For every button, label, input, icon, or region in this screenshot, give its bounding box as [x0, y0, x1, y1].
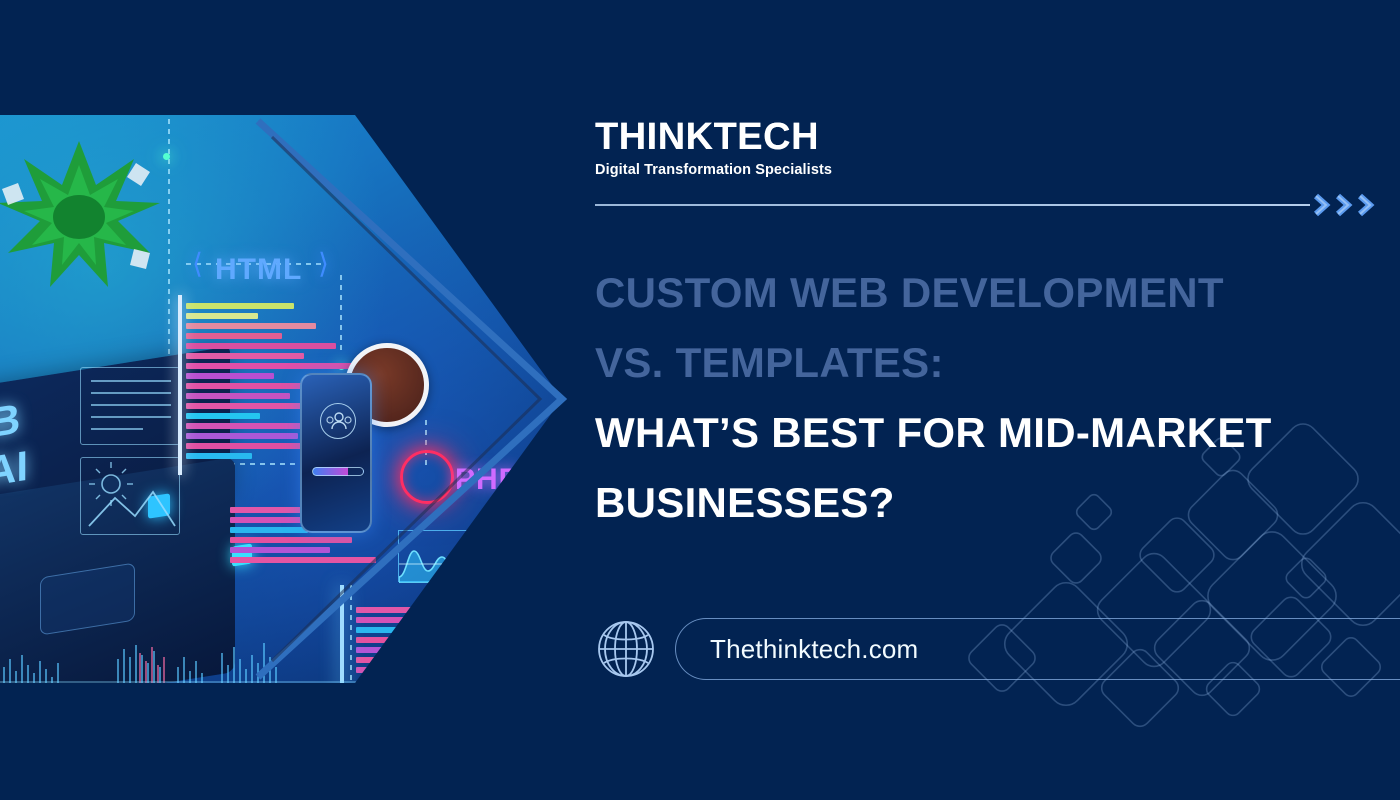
screen-letter-ai: AI: [0, 442, 28, 497]
content-column: THINKTECH Digital Transformation Special…: [595, 0, 1400, 800]
code-block: [230, 557, 376, 563]
code-block: [230, 527, 308, 533]
code-block: [186, 323, 316, 329]
chevron-group: [1312, 192, 1386, 218]
screen-letter-b: B: [0, 395, 20, 448]
waveform-chart: [398, 530, 498, 582]
code-cursor-line: [178, 295, 182, 475]
image-card: [80, 457, 180, 535]
html-label: HTML: [215, 253, 302, 287]
code-block: [186, 423, 318, 429]
angle-bracket-close-icon: ⟩: [318, 247, 329, 280]
chevron-right-icon: [1312, 192, 1386, 218]
users-group-icon: [320, 403, 356, 439]
code-block: [186, 413, 260, 419]
globe-icon: [595, 618, 657, 680]
website-url-field[interactable]: Thethinktech.com: [675, 618, 1400, 680]
brand-name: THINKTECH: [595, 118, 832, 156]
website-url-text: Thethinktech.com: [710, 634, 918, 665]
code-block: [230, 547, 330, 553]
smartphone-mockup: [300, 373, 372, 533]
code-block: [186, 333, 282, 339]
headline-line-2: VS. TEMPLATES:: [595, 328, 1400, 398]
headline-line-3: WHAT’S BEST FOR MID-MARKET: [595, 398, 1400, 468]
code-block: [186, 343, 336, 349]
brand-tagline: Digital Transformation Specialists: [595, 162, 832, 178]
hero-illustration: B AI: [0, 115, 562, 683]
potted-plant-icon: [0, 123, 174, 313]
neon-ring-decoration: [400, 450, 454, 504]
code-block: [186, 393, 290, 399]
page-title: CUSTOM WEB DEVELOPMENT VS. TEMPLATES: WH…: [595, 258, 1400, 538]
divider: [595, 190, 1400, 220]
code-block: [186, 363, 354, 369]
code-block: [186, 453, 252, 459]
code-block: [356, 607, 418, 613]
progress-bar: [312, 467, 364, 476]
code-block: [186, 373, 274, 379]
illustration-contents: B AI: [0, 115, 562, 683]
angle-bracket-open-icon: ⟨: [192, 247, 203, 280]
document-card: [80, 367, 180, 445]
code-block: [356, 627, 408, 633]
code-block: [356, 617, 452, 623]
php-label: PHP: [455, 463, 520, 497]
code-block: [186, 313, 258, 319]
divider-line: [595, 204, 1310, 206]
website-row: Thethinktech.com: [595, 618, 1400, 680]
code-block: [230, 537, 352, 543]
headline-line-4: BUSINESSES?: [595, 468, 1400, 538]
city-skyline-decoration: [0, 637, 420, 683]
code-block: [186, 353, 304, 359]
code-block: [186, 303, 294, 309]
blog-banner: B AI: [0, 0, 1400, 800]
guide-line-vertical: [340, 275, 342, 355]
headline-line-1: CUSTOM WEB DEVELOPMENT: [595, 258, 1400, 328]
code-block: [186, 433, 298, 439]
brand-logo[interactable]: THINKTECH Digital Transformation Special…: [595, 118, 832, 178]
